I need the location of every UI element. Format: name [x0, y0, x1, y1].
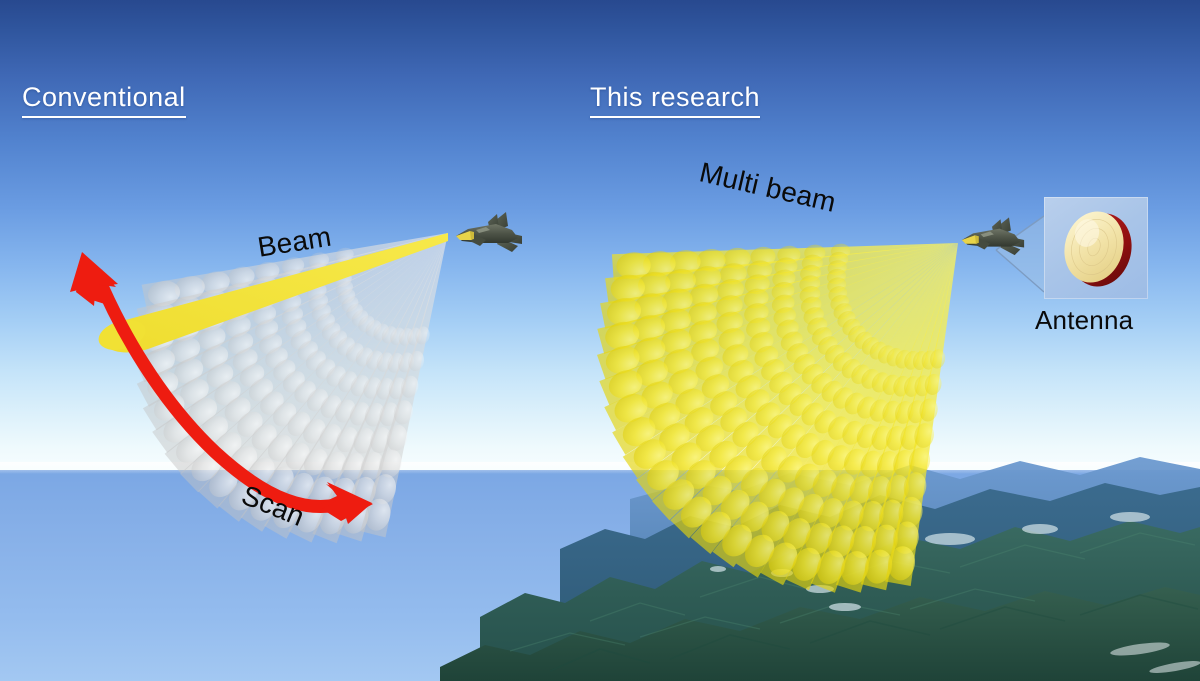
panel-title-research-text: This research [590, 82, 760, 112]
fighter-jet-icon-left [452, 210, 524, 262]
fighter-jet-icon-right [958, 215, 1026, 265]
panel-title-conventional: Conventional [22, 82, 186, 118]
title-underline [590, 116, 760, 118]
label-antenna: Antenna [1035, 305, 1133, 336]
panel-title-research: This research [590, 82, 760, 118]
figure-canvas: Conventional This research Beam Scan Mul… [0, 0, 1200, 681]
title-underline [22, 116, 186, 118]
parabolic-dish-icon [1044, 197, 1148, 299]
mountain-range [440, 421, 1200, 681]
antenna-inset-panel[interactable] [1044, 197, 1148, 299]
panel-title-conventional-text: Conventional [22, 82, 186, 112]
